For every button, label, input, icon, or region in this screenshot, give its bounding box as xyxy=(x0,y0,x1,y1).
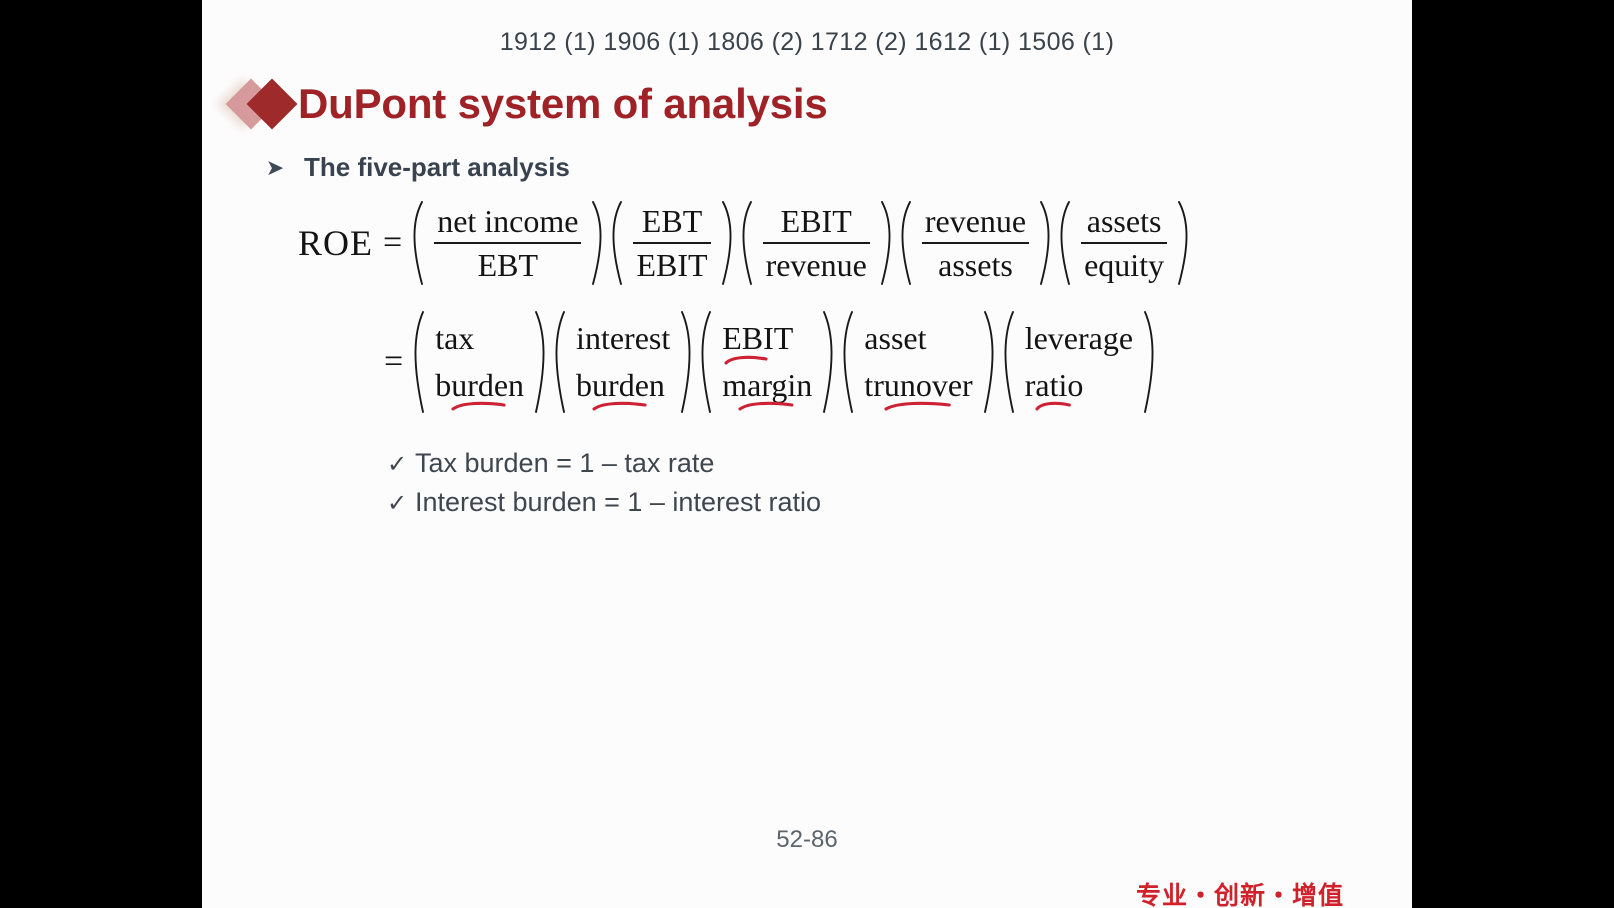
checklist: ✓Tax burden = 1 – tax rate✓Interest burd… xyxy=(387,448,821,526)
stack-bottom: ratio xyxy=(1025,362,1084,409)
paren-open xyxy=(550,310,567,414)
paren-open xyxy=(696,310,713,414)
diamond-icon xyxy=(224,75,300,133)
paren-open xyxy=(409,310,426,414)
term-stack: EBITmargin xyxy=(713,310,821,414)
fraction-group: assetsequity xyxy=(1055,200,1193,286)
fraction-group: revenueassets xyxy=(896,200,1055,286)
equation-equals-1: = xyxy=(379,224,408,262)
stack-group: assettrunover xyxy=(838,310,998,414)
stack-top: tax xyxy=(435,315,474,362)
fraction-denominator: revenue xyxy=(763,247,870,283)
stack-group: leverageratio xyxy=(999,310,1159,414)
letterbox-right xyxy=(1412,0,1614,908)
paren-open xyxy=(1055,200,1072,286)
equation-factors-1: net incomeEBT EBTEBIT EBITrevenue revenu… xyxy=(408,200,1193,286)
paren-close xyxy=(679,310,696,414)
stack-top: asset xyxy=(864,315,926,362)
bullet-label: The five-part analysis xyxy=(304,152,570,183)
stack-bottom: margin xyxy=(722,362,812,409)
arrow-bullet-icon: ➤ xyxy=(264,157,286,179)
fraction-numerator: net income xyxy=(434,203,581,239)
term-stack: leverageratio xyxy=(1016,310,1142,414)
fraction: EBITrevenue xyxy=(754,200,879,286)
equation-factors-2: taxburden interestburden EBITmargin asse… xyxy=(409,310,1159,414)
fraction-bar xyxy=(763,242,870,244)
fraction: EBTEBIT xyxy=(624,200,719,286)
term-stack: interestburden xyxy=(567,310,679,414)
fraction-denominator: EBT xyxy=(475,247,541,283)
fraction: net incomeEBT xyxy=(425,200,590,286)
stack-bottom: burden xyxy=(576,362,665,409)
fraction-bar xyxy=(434,242,581,244)
check-icon: ✓ xyxy=(387,453,411,477)
page-number: 52-86 xyxy=(202,826,1412,854)
paren-close xyxy=(982,310,999,414)
stack-bottom: burden xyxy=(435,362,524,409)
paren-close xyxy=(533,310,550,414)
slide-title-row: DuPont system of analysis xyxy=(224,72,828,136)
number-strip: 1912 (1) 1906 (1) 1806 (2) 1712 (2) 1612… xyxy=(202,28,1412,57)
checklist-item-label: Tax burden = 1 – tax rate xyxy=(415,448,714,479)
page-title: DuPont system of analysis xyxy=(298,83,828,125)
paren-close xyxy=(1142,310,1159,414)
paren-close xyxy=(1038,200,1055,286)
fraction-numerator: EBT xyxy=(639,203,705,239)
checklist-item: ✓Tax burden = 1 – tax rate xyxy=(387,448,821,479)
fraction-group: EBITrevenue xyxy=(737,200,896,286)
brand-slogan: 专业・创新・增值 xyxy=(1136,876,1344,908)
slide-canvas: 1912 (1) 1906 (1) 1806 (2) 1712 (2) 1612… xyxy=(202,0,1412,908)
paren-close xyxy=(879,200,896,286)
check-icon: ✓ xyxy=(387,492,411,516)
equation-line-2: = taxburden interestburden EBITmargin as… xyxy=(380,310,1159,414)
fraction-bar xyxy=(1081,242,1167,244)
stack-group: EBITmargin xyxy=(696,310,838,414)
term-stack: taxburden xyxy=(426,310,533,414)
stack-bottom: trunover xyxy=(864,362,972,409)
paren-open xyxy=(896,200,913,286)
equation-equals-2: = xyxy=(380,343,409,381)
fraction-denominator: EBIT xyxy=(633,247,710,283)
checklist-item-label: Interest burden = 1 – interest ratio xyxy=(415,487,821,518)
stack-group: interestburden xyxy=(550,310,696,414)
stack-top: EBIT xyxy=(722,315,793,362)
slide-viewer: 1912 (1) 1906 (1) 1806 (2) 1712 (2) 1612… xyxy=(0,0,1614,908)
letterbox-left xyxy=(0,0,202,908)
checklist-item: ✓Interest burden = 1 – interest ratio xyxy=(387,487,821,518)
paren-open xyxy=(408,200,425,286)
paren-open xyxy=(737,200,754,286)
stack-top: interest xyxy=(576,315,670,362)
stack-group: taxburden xyxy=(409,310,550,414)
paren-open xyxy=(607,200,624,286)
paren-open xyxy=(999,310,1016,414)
fraction-numerator: revenue xyxy=(922,203,1029,239)
paren-close xyxy=(1176,200,1193,286)
fraction-numerator: assets xyxy=(1084,203,1165,239)
paren-open xyxy=(838,310,855,414)
fraction: revenueassets xyxy=(913,200,1038,286)
fraction-numerator: EBIT xyxy=(778,203,855,239)
fraction-group: net incomeEBT xyxy=(408,200,607,286)
fraction: assetsequity xyxy=(1072,200,1176,286)
paren-close xyxy=(720,200,737,286)
equation-lhs: ROE xyxy=(298,222,379,264)
fraction-bar xyxy=(922,242,1029,244)
bullet-row: ➤ The five-part analysis xyxy=(264,152,570,183)
fraction-group: EBTEBIT xyxy=(607,200,736,286)
paren-close xyxy=(821,310,838,414)
fraction-denominator: assets xyxy=(935,247,1016,283)
fraction-denominator: equity xyxy=(1081,247,1167,283)
term-stack: assettrunover xyxy=(855,310,981,414)
paren-close xyxy=(590,200,607,286)
fraction-bar xyxy=(633,242,710,244)
stack-top: leverage xyxy=(1025,315,1133,362)
equation-line-1: ROE = net incomeEBT EBTEBIT EBITrevenue … xyxy=(298,200,1193,286)
